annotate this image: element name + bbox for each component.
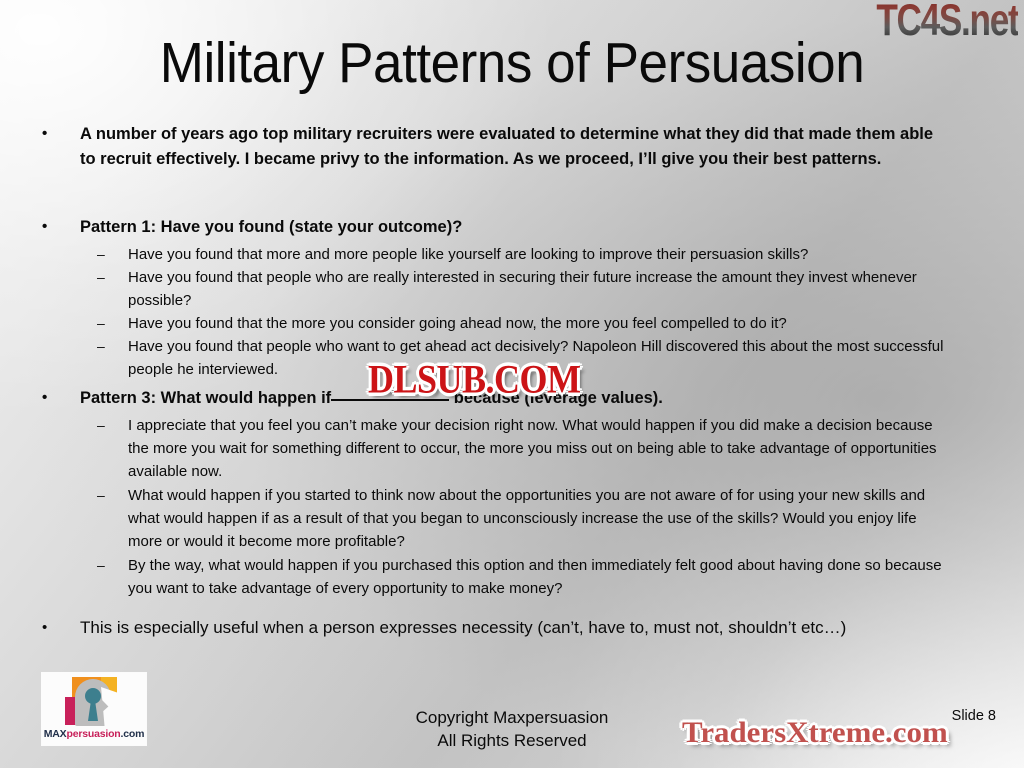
- list-item: – Have you found that the more you consi…: [128, 312, 952, 335]
- subbullet-marker: –: [97, 484, 105, 507]
- bullet-pattern1-heading: • Pattern 1: Have you found (state your …: [80, 215, 952, 240]
- list-item-text: Have you found that more and more people…: [128, 246, 808, 263]
- bullet-marker: •: [42, 122, 47, 147]
- list-item-text: Have you found that the more you conside…: [128, 315, 787, 332]
- subbullet-marker: –: [97, 266, 105, 289]
- list-item: – Have you found that people who are rea…: [128, 266, 952, 312]
- subbullet-marker: –: [97, 554, 105, 577]
- page-title: Military Patterns of Persuasion: [36, 30, 988, 96]
- subbullet-marker: –: [97, 312, 105, 335]
- list-item: – By the way, what would happen if you p…: [128, 554, 952, 600]
- bullet-marker: •: [42, 215, 47, 240]
- slide-canvas: Military Patterns of Persuasion TC4S.net…: [0, 0, 1024, 768]
- pattern1-heading-text: Pattern 1: Have you found (state your ou…: [80, 218, 462, 236]
- subbullet-marker: –: [97, 414, 105, 437]
- list-item-text: What would happen if you started to thin…: [128, 487, 925, 550]
- bullet-marker: •: [42, 386, 47, 411]
- bullet-closing-text: This is especially useful when a person …: [80, 618, 846, 637]
- pattern3-heading-before: Pattern 3: What would happen if: [80, 389, 331, 407]
- watermark-dlsub: DLSUB.COM: [368, 355, 581, 402]
- bullet-marker: •: [42, 616, 47, 641]
- slide-number: Slide 8: [952, 708, 996, 724]
- bullet-intro-text: A number of years ago top military recru…: [80, 125, 933, 168]
- subbullet-marker: –: [97, 243, 105, 266]
- subbullet-marker: –: [97, 335, 105, 358]
- list-item: – I appreciate that you feel you can’t m…: [128, 414, 952, 483]
- list-item-text: By the way, what would happen if you pur…: [128, 557, 942, 597]
- watermark-tradersxtreme: TradersXtreme.com: [682, 716, 948, 750]
- list-item: – What would happen if you started to th…: [128, 484, 952, 553]
- list-item: – Have you found that more and more peop…: [128, 243, 952, 266]
- list-item-text: I appreciate that you feel you can’t mak…: [128, 417, 937, 480]
- bullet-closing: • This is especially useful when a perso…: [80, 616, 952, 641]
- bullet-intro: • A number of years ago top military rec…: [80, 122, 952, 171]
- list-item-text: Have you found that people who are reall…: [128, 269, 917, 309]
- watermark-tc4s: TC4S.net: [876, 0, 1018, 46]
